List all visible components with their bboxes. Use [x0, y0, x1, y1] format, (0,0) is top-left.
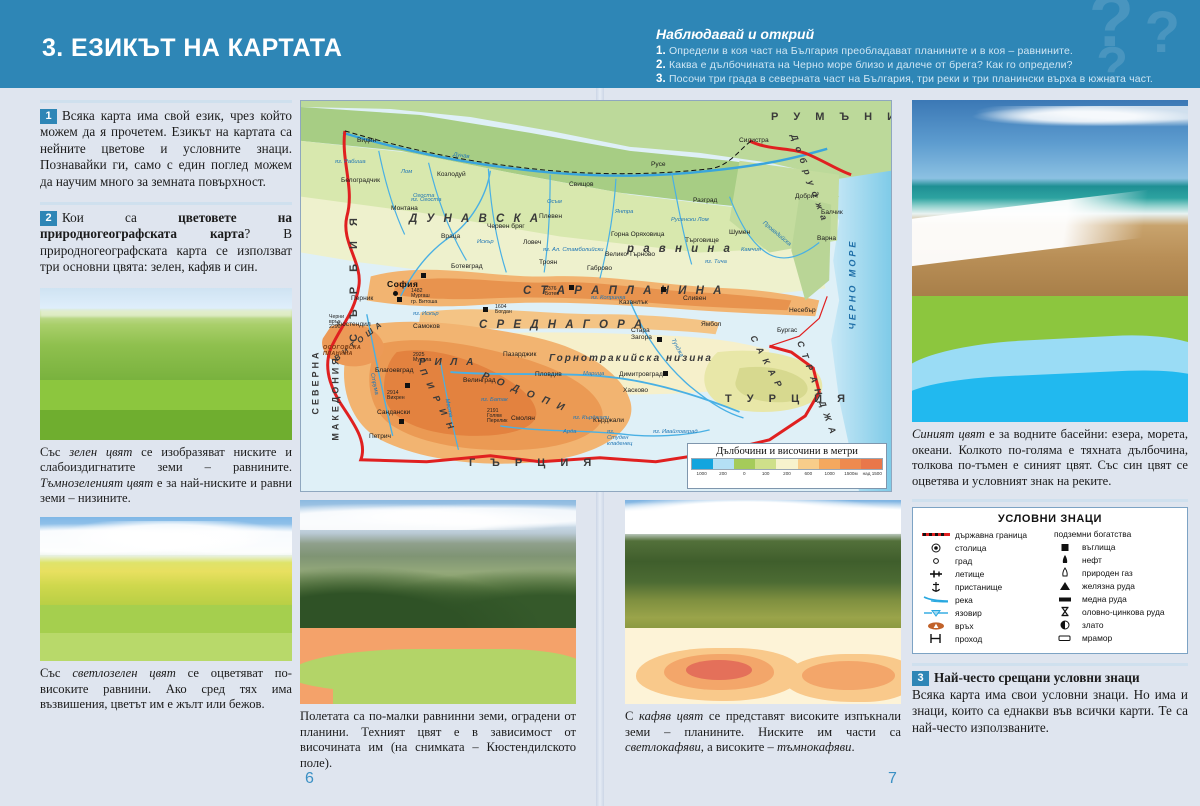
map-city-samokov: Самоков — [413, 323, 440, 330]
map-legend-title: Дълбочини и височини в метри — [688, 444, 886, 457]
map-label-country-greece: Г Ъ Р Ц И Я — [469, 457, 597, 469]
caption-text: С — [625, 709, 639, 723]
map-peak-musala: 2925 Мусала — [413, 353, 437, 363]
scale-swatch-4 — [776, 459, 797, 469]
caption-emphasis: Тъмнозеленият цвят — [40, 476, 153, 490]
map-city-targovishte: Търговище — [685, 237, 719, 244]
legend-divider — [912, 499, 1188, 502]
scale-swatch-3 — [755, 459, 776, 469]
yellow-field-photo-card: Със светлозелен цвят се оцветяват по-вис… — [40, 517, 292, 713]
legend-column-general: държавна граница столица град — [921, 529, 1048, 646]
scale-swatch-7 — [840, 459, 861, 469]
valley-diagram-green-area-2 — [333, 663, 576, 704]
map-peak-vihren: 2914 Вихрен — [387, 391, 409, 401]
paragraph-block-3: 3Най-често срещани условни знаци Всяка к… — [912, 663, 1188, 736]
chapter-title: 3. ЕЗИКЪТ НА КАРТАТА — [42, 34, 342, 63]
legend-item-marble: мрамор — [1052, 632, 1179, 645]
green-color-band — [40, 380, 292, 410]
map-river-arda: Арда — [563, 429, 577, 435]
light-green-color-band-2 — [40, 633, 292, 661]
caption-emphasis: Синият цвят — [912, 427, 985, 441]
map-peak-cherni-vrah: Черни връх 2290 — [329, 315, 353, 330]
map-label-country-romania: Р У М Ъ Н И Я — [771, 111, 892, 123]
map-city-pernik: Перник — [351, 295, 373, 302]
valley-caption: Полетата са по-малки равнинни земи, огра… — [300, 709, 576, 771]
map-label-country-north-macedonia-1: СЕВЕРНА — [311, 349, 321, 414]
map-marker-mineral — [483, 307, 488, 312]
observe-question-1: 1. Определи в коя част на България преоб… — [656, 44, 1186, 58]
map-city-sliven: Сливен — [683, 295, 706, 302]
legend-label: природен газ — [1082, 567, 1133, 579]
map-city-petrich: Петрич — [369, 433, 391, 440]
map-lake-iskar: яз. Искър — [413, 311, 439, 317]
legend-label: оловно-цинкова руда — [1082, 606, 1165, 618]
legend-box-title: УСЛОВНИ ЗНАЦИ — [921, 513, 1179, 525]
observe-question-1-number: 1. — [656, 45, 666, 57]
scale-swatch-6 — [819, 459, 840, 469]
dark-green-color-band — [40, 410, 292, 440]
light-green-caption: Със светлозелен цвят се оцветяват по-вис… — [40, 666, 292, 713]
section-divider — [40, 202, 292, 205]
legend-label: столица — [955, 542, 986, 554]
paragraph-1: 1Всяка карта има свой език, чрез който м… — [40, 108, 292, 190]
caption-text: Със — [40, 445, 69, 459]
peak-icon — [921, 620, 951, 631]
map-scale-ticks: 1000 200 0 100 200 600 1000 1500м над 15… — [691, 471, 883, 476]
map-peak-botev: 2376 Ботев — [545, 287, 567, 297]
map-marker-mineral — [569, 285, 574, 290]
sea-depth-diagram — [912, 296, 1188, 422]
map-city-ruse: Русе — [651, 161, 666, 168]
legend-label: проход — [955, 633, 982, 645]
map-city-lovech: Ловеч — [523, 239, 541, 246]
airport-icon — [921, 568, 951, 579]
legend-label: летище — [955, 568, 984, 580]
legend-label: нефт — [1082, 554, 1102, 566]
section-number-badge-3: 3 — [912, 671, 929, 686]
scale-tick-8: над 1500 — [862, 471, 883, 476]
map-city-silistra: Силистра — [739, 137, 769, 144]
map-river-maritsa: Марица — [583, 371, 604, 377]
iron-ore-icon — [1052, 580, 1078, 591]
scale-swatch-8 — [861, 459, 882, 469]
capital-icon — [921, 542, 951, 553]
map-label-sredna-gora: С Р Е Д Н А Г О Р А — [479, 319, 645, 331]
map-city-veliko-tarnovo: Велико Търново — [605, 251, 655, 258]
map-city-pazardzhik: Пазарджик — [503, 351, 536, 358]
scale-tick-5: 600 — [798, 471, 819, 476]
legend-item-city: град — [921, 555, 1048, 568]
map-city-varna: Варна — [817, 235, 836, 242]
section-number-badge-2: 2 — [40, 211, 57, 226]
map-lake-kardzhali: яз. Кърджали — [573, 415, 609, 421]
map-city-yambol: Ямбол — [701, 321, 721, 328]
paragraph-3: 3Най-често срещани условни знаци Всяка к… — [912, 670, 1188, 736]
legend-item-port: пристанище — [921, 581, 1048, 594]
legend-item-lead-zinc-ore: оловно-цинкова руда — [1052, 606, 1179, 619]
legend-item-pass: проход — [921, 633, 1048, 646]
map-city-plovdiv: Пловдив — [535, 371, 562, 378]
observe-question-2: 2. Каква е дълбочината на Черно море бли… — [656, 58, 1186, 72]
scale-tick-2: 0 — [734, 471, 755, 476]
legend-item-natural-gas: природен газ — [1052, 567, 1179, 580]
caption-emphasis: светлозелен цвят — [72, 666, 176, 680]
copper-ore-icon — [1052, 593, 1078, 604]
paragraph-2: 2Кои са цветовете на природногеографскат… — [40, 210, 292, 276]
scale-swatch-5 — [798, 459, 819, 469]
textbook-spread: 3. ЕЗИКЪТ НА КАРТАТА ? ? ? Наблюдавай и … — [0, 0, 1200, 806]
page-number-left: 6 — [305, 770, 314, 788]
mountain-diagram-dark-brown-e — [686, 660, 752, 680]
legend-item-capital: столица — [921, 542, 1048, 555]
map-peak-vitosha-label: гр. Витоша — [411, 299, 437, 305]
legend-item-copper-ore: медна руда — [1052, 593, 1179, 606]
legend-item-reservoir: язовир — [921, 607, 1048, 620]
map-city-balchik: Балчик — [821, 209, 843, 216]
caption-text: . — [851, 740, 854, 754]
map-city-vidin: Видин — [357, 137, 376, 144]
map-city-dimitrovgrad: Димитровград — [619, 371, 663, 378]
caption-emphasis: светлокафяви — [625, 740, 701, 754]
light-green-color-band — [40, 605, 292, 633]
map-city-shumen: Шумен — [729, 229, 750, 236]
city-icon — [921, 555, 951, 566]
map-peak-golyam-perelik: 2191 Голям Перелик — [487, 409, 513, 424]
page-header: 3. ЕЗИКЪТ НА КАРТАТА ? ? ? Наблюдавай и … — [0, 0, 1200, 88]
map-city-svishtov: Свищов — [569, 181, 593, 188]
scale-swatch-1 — [713, 459, 734, 469]
caption-emphasis: кафяв цвят — [639, 709, 703, 723]
map-river-iskar: Искър — [477, 239, 494, 245]
legend-label: злато — [1082, 619, 1104, 631]
port-anchor-icon — [921, 581, 951, 592]
observe-question-2-number: 2. — [656, 59, 666, 71]
scale-tick-3: 100 — [755, 471, 776, 476]
observe-question-1-text: Определи в коя част на България преоблад… — [669, 45, 1073, 57]
valley-color-diagram — [300, 628, 576, 704]
coal-icon — [1052, 541, 1078, 552]
legend-item-iron-ore: желязна руда — [1052, 580, 1179, 593]
legend-label: медна руда — [1082, 593, 1127, 605]
map-city-gabrovo: Габрово — [587, 265, 612, 272]
legend-item-gold: злато — [1052, 619, 1179, 632]
legend-column-minerals: подземни богатства въглища нефт — [1052, 529, 1179, 646]
map-marker-mineral — [399, 419, 404, 424]
legend-item-river: река — [921, 594, 1048, 607]
map-marker-capital-sofia — [393, 291, 398, 296]
caption-emphasis: тъмнокафяви — [777, 740, 851, 754]
mountain-color-diagram — [625, 628, 901, 704]
legend-label: мрамор — [1082, 632, 1112, 644]
caption-text: Със — [40, 666, 72, 680]
legend-item-airport: летище — [921, 568, 1048, 581]
caption-emphasis: зелен цвят — [69, 445, 132, 459]
scale-swatch-0 — [692, 459, 713, 469]
gold-icon — [1052, 619, 1078, 630]
map-symbols-legend-box: УСЛОВНИ ЗНАЦИ държавна граница столица — [912, 507, 1188, 654]
observe-section-title: Наблюдавай и открий — [656, 26, 814, 42]
black-sea-beach-photo — [912, 100, 1188, 296]
mountain-pass-icon — [921, 633, 951, 644]
kyustendil-valley-photo — [300, 500, 576, 628]
map-river-kamchiya: Камчия — [741, 247, 761, 253]
map-peak-bogdan: 1604 Богдан — [495, 305, 517, 315]
legend-label: язовир — [955, 607, 982, 619]
map-lake-studen-kladenets: яз. Студен кладенец — [607, 429, 633, 447]
map-city-kozloduy: Козлодуй — [437, 171, 466, 178]
map-marker-mineral — [405, 383, 410, 388]
observe-question-2-text: Каква е дълбочината на Черно море близо … — [669, 59, 1073, 71]
map-city-troyan: Троян — [539, 259, 557, 266]
map-peak-murgash: 1482 Мургаш — [411, 289, 435, 299]
map-marker-mineral — [397, 297, 402, 302]
page-number-right: 7 — [888, 770, 897, 788]
map-lake-ticha: яз. Тича — [705, 259, 727, 265]
map-city-montana: Монтана — [391, 205, 418, 212]
right-column: Синият цвят е за водните басейни: езера,… — [912, 100, 1188, 736]
paragraph-block-2: 2Кои са цветовете на природногеографскат… — [40, 202, 292, 276]
scale-tick-4: 200 — [776, 471, 797, 476]
bulgaria-physical-map[interactable]: Р У М Ъ Н И Я С Ъ Р Б И Я Т У Р Ц И Я Г … — [300, 100, 892, 492]
map-label-black-sea: ЧЕРНО МОРЕ — [847, 239, 857, 330]
map-lake-ivaylovgrad: яз. Ивайловград — [653, 429, 698, 435]
map-lake-aleksandar-stamboliyski: яз. Ал. Стамболийски — [543, 247, 603, 253]
map-city-blagoevgrad: Благоевград — [375, 367, 413, 374]
legend-label: град — [955, 555, 972, 567]
map-city-velingrad: Велинград — [463, 377, 496, 384]
observe-question-3-text: Посочи три града в северната част на Бъл… — [669, 73, 1153, 85]
map-city-smolyan: Смолян — [511, 415, 535, 422]
map-city-cherven-bryag: Червен бряг — [487, 223, 525, 230]
map-lake-batak: яз. Батак — [481, 397, 508, 403]
legend-item-oil: нефт — [1052, 554, 1179, 567]
legend-item-coal: въглища — [1052, 541, 1179, 554]
map-city-vratsa: Враца — [441, 233, 460, 240]
map-label-upper-thracian-lowland: Горнотракийска низина — [549, 353, 713, 364]
map-marker-mineral — [657, 337, 662, 342]
map-elevation-legend: Дълбочини и височини в метри 1000 200 0 … — [687, 443, 887, 489]
map-marker-mineral — [421, 273, 426, 278]
map-city-dobrich: Добрич — [795, 193, 818, 200]
legend-item-peak: връх — [921, 620, 1048, 633]
green-plain-caption: Със зелен цвят се изобразяват ниските и … — [40, 445, 292, 507]
mountain-photo — [625, 500, 901, 628]
legend-columns: държавна граница столица град — [921, 529, 1179, 646]
map-label-country-north-macedonia-2: МАКЕДОНИЯ — [331, 355, 341, 440]
legend-label: връх — [955, 620, 974, 632]
caption-text: , а високите – — [701, 740, 777, 754]
legend-item-state-border: държавна граница — [921, 529, 1048, 542]
map-river-lom: Лом — [401, 169, 412, 175]
green-plain-photo-card: Със зелен цвят се изобразяват ниските и … — [40, 288, 292, 507]
observe-question-3: 3. Посочи три града в северната част на … — [656, 72, 1186, 86]
map-lake-koprinka: яз. Копринка — [591, 295, 625, 301]
map-city-haskovo: Хасково — [623, 387, 648, 394]
paragraph-3-title: Най-често срещани условни знаци — [934, 670, 1140, 685]
paragraph-3-text: Всяка карта има свои условни знаци. Но и… — [912, 687, 1188, 735]
observe-question-3-number: 3. — [656, 73, 666, 85]
scale-tick-1: 200 — [712, 471, 733, 476]
marble-icon — [1052, 632, 1078, 643]
paragraph-block-1: 1Всяка карта има свой език, чрез който м… — [40, 100, 292, 190]
section-divider — [912, 663, 1188, 666]
map-label-osogovo-mountain: ОСОГОВСКА ПЛАНИНА — [323, 345, 373, 357]
map-river-osam: Осъм — [547, 199, 562, 205]
map-marker-mineral — [663, 371, 668, 376]
river-icon — [921, 594, 951, 605]
green-plain-photo — [40, 288, 292, 380]
valley-photo-card: Полетата са по-малки равнинни земи, огра… — [300, 500, 576, 771]
map-river-rusenski-lom: Русенски Лом — [671, 217, 709, 223]
map-label-country-turkey: Т У Р Ц И Я — [725, 393, 851, 405]
reservoir-icon — [921, 607, 951, 618]
legend-label: река — [955, 594, 973, 606]
oil-icon — [1052, 554, 1078, 565]
paragraph-1-text: Всяка карта има свой език, чрез който мо… — [40, 108, 292, 189]
map-elevation-scale — [691, 458, 883, 470]
scale-tick-0: 1000 — [691, 471, 712, 476]
map-city-sandanski: Сандански — [377, 409, 410, 416]
state-border-icon — [921, 529, 951, 540]
left-text-column: 1Всяка карта има свой език, чрез който м… — [40, 100, 292, 713]
map-marker-mineral — [661, 287, 666, 292]
legend-label: пристанище — [955, 581, 1002, 593]
map-city-botevgrad: Ботевград — [451, 263, 483, 270]
map-lake-ogosta: яз. Огоста — [411, 197, 441, 203]
scale-tick-6: 1000 — [819, 471, 840, 476]
lead-zinc-ore-icon — [1052, 606, 1078, 617]
natural-gas-icon — [1052, 567, 1078, 578]
scale-swatch-2 — [734, 459, 755, 469]
map-city-razgrad: Разград — [693, 197, 717, 204]
scale-tick-7: 1500м — [840, 471, 861, 476]
map-city-belogradchik: Белоградчик — [341, 177, 380, 184]
mountain-photo-card: С кафяв цвят се представят високите изпъ… — [625, 500, 901, 756]
section-number-badge-1: 1 — [40, 109, 57, 124]
legend-minerals-header: подземни богатства — [1052, 529, 1179, 539]
map-city-burgas: Бургас — [777, 327, 797, 334]
legend-label: държавна граница — [955, 529, 1027, 541]
map-city-gorna-oryahovitsa: Горна Оряховица — [611, 231, 664, 238]
map-lake-rabisha: яз. Рабиша — [335, 159, 366, 165]
legend-label: въглища — [1082, 541, 1115, 553]
mountain-caption: С кафяв цвят се представят високите изпъ… — [625, 709, 901, 756]
legend-label: желязна руда — [1082, 580, 1135, 592]
map-city-nesebar: Несебър — [789, 307, 816, 314]
yellow-field-photo — [40, 517, 292, 605]
section-divider — [40, 100, 292, 103]
map-city-pleven: Плевен — [539, 213, 562, 220]
map-river-yantra: Янтра — [615, 209, 633, 215]
paragraph-2-lead: Кои са — [62, 210, 178, 225]
sea-caption: Синият цвят е за водните басейни: езера,… — [912, 427, 1188, 489]
observe-question-list: 1. Определи в коя част на България преоб… — [656, 44, 1186, 86]
